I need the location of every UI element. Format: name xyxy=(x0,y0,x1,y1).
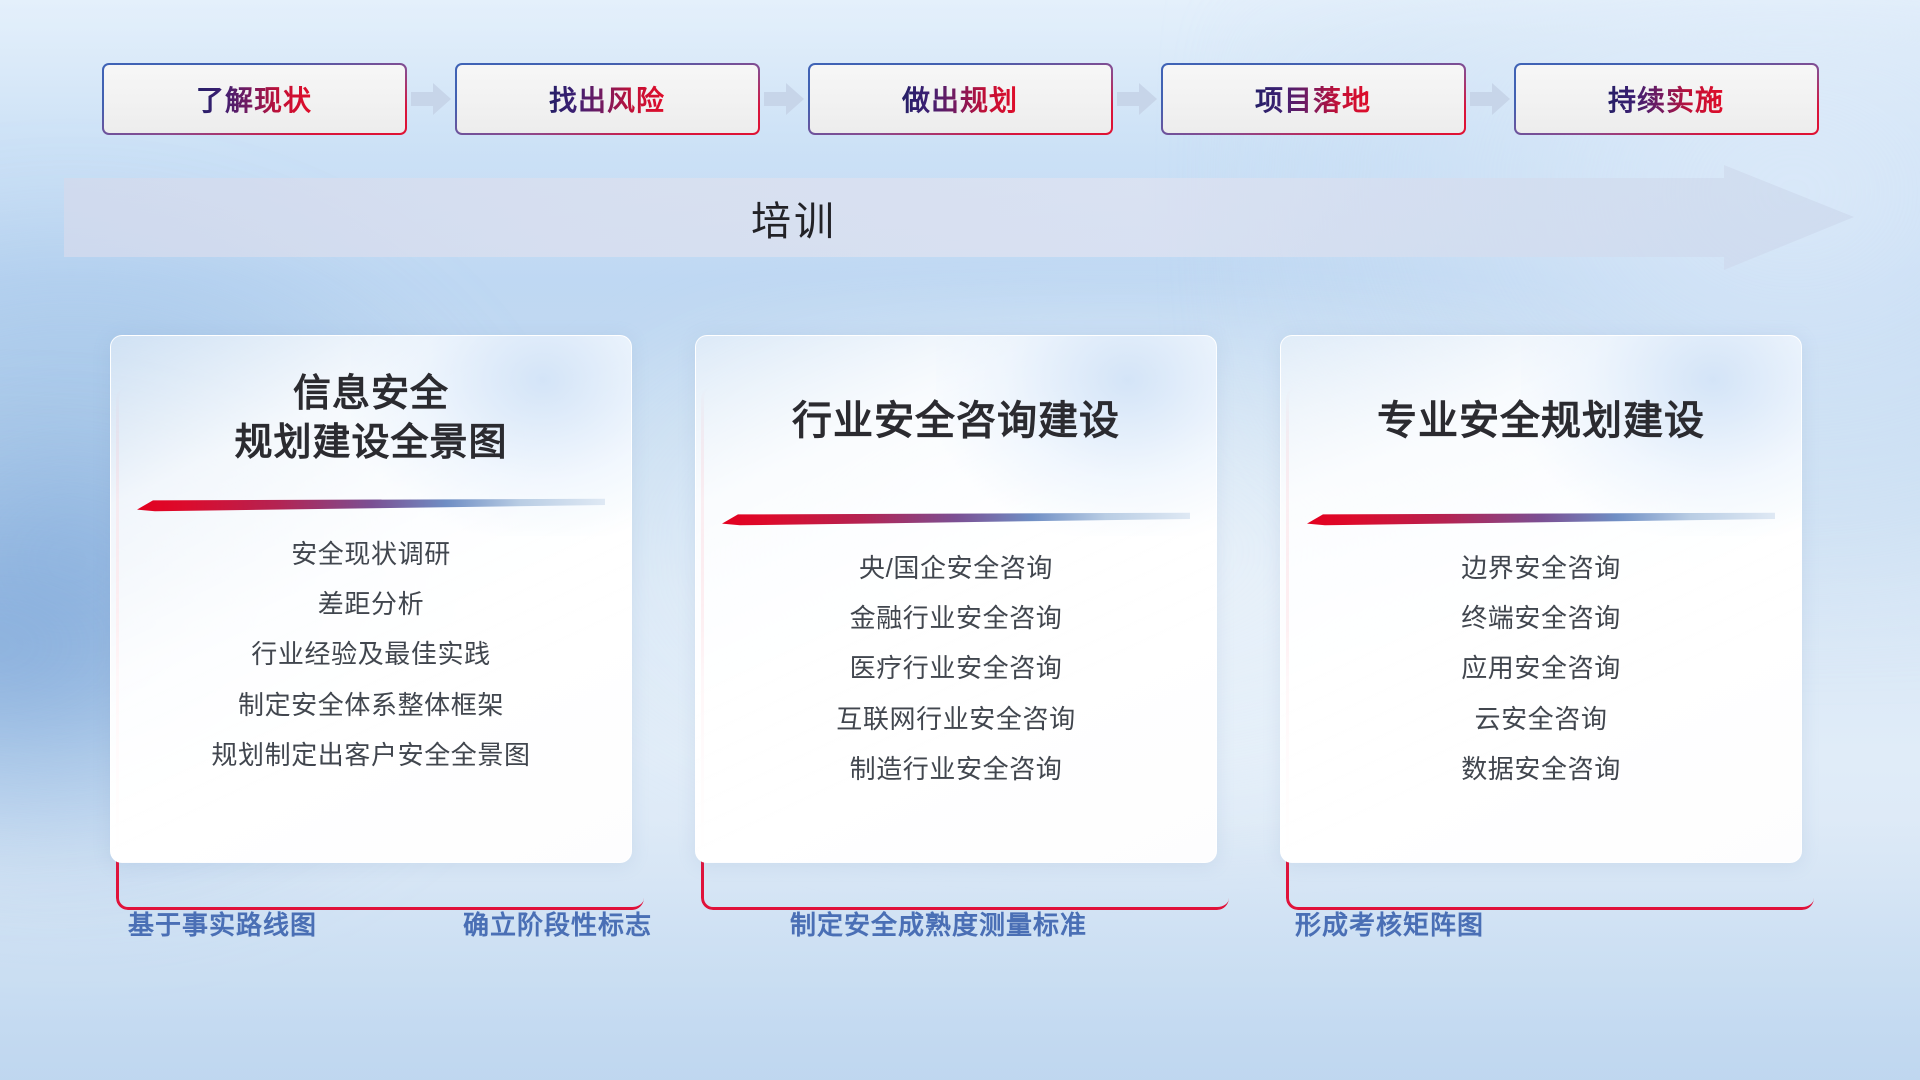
card-item-list: 安全现状调研差距分析行业经验及最佳实践制定安全体系整体框架规划制定出客户安全全景… xyxy=(137,533,605,776)
step-label: 项目落地 xyxy=(1255,79,1371,119)
step-understand-status[interactable]: 了解现状 xyxy=(102,63,407,135)
step-make-plan[interactable]: 做出规划 xyxy=(808,63,1113,135)
card-1: 信息安全 规划建设全景图安全现状调研差距分析行业经验及最佳实践制定安全体系整体框… xyxy=(110,335,640,880)
step-label: 找出风险 xyxy=(549,79,665,119)
card-divider xyxy=(722,511,1190,527)
list-item[interactable]: 互联网行业安全咨询 xyxy=(836,698,1075,740)
list-item[interactable]: 行业经验及最佳实践 xyxy=(251,633,490,675)
card-title: 专业安全规划建设 xyxy=(1377,396,1705,447)
card-surface: 专业安全规划建设边界安全咨询终端安全咨询应用安全咨询云安全咨询数据安全咨询 xyxy=(1280,335,1802,863)
banner-title: 培训 xyxy=(64,165,1524,270)
card-surface: 信息安全 规划建设全景图安全现状调研差距分析行业经验及最佳实践制定安全体系整体框… xyxy=(110,335,632,863)
list-item[interactable]: 规划制定出客户安全全景图 xyxy=(211,734,530,776)
footer-label: 制定安全成熟度测量标准 xyxy=(790,905,1087,942)
card-title: 信息安全 规划建设全景图 xyxy=(234,370,507,467)
footer-label: 确立阶段性标志 xyxy=(463,905,652,942)
footer-label-row: 基于事实路线图确立阶段性标志制定安全成熟度测量标准形成考核矩阵图 xyxy=(0,905,1920,965)
step-label: 了解现状 xyxy=(196,79,312,119)
list-item[interactable]: 应用安全咨询 xyxy=(1461,647,1621,689)
list-item[interactable]: 数据安全咨询 xyxy=(1461,748,1621,790)
list-item[interactable]: 制定安全体系整体框架 xyxy=(238,684,504,726)
step-project-landing[interactable]: 项目落地 xyxy=(1161,63,1466,135)
step-label: 持续实施 xyxy=(1608,79,1724,119)
list-item[interactable]: 云安全咨询 xyxy=(1474,698,1607,740)
step-find-risk[interactable]: 找出风险 xyxy=(455,63,760,135)
card-content: 行业安全咨询建设央/国企安全咨询金融行业安全咨询医疗行业安全咨询互联网行业安全咨… xyxy=(696,336,1216,862)
arrow-right-icon xyxy=(760,81,808,117)
card-row: 信息安全 规划建设全景图安全现状调研差距分析行业经验及最佳实践制定安全体系整体框… xyxy=(0,335,1920,895)
card-surface: 行业安全咨询建设央/国企安全咨询金融行业安全咨询医疗行业安全咨询互联网行业安全咨… xyxy=(695,335,1217,863)
process-step-row: 了解现状找出风险做出规划项目落地持续实施 xyxy=(0,60,1920,138)
list-item[interactable]: 金融行业安全咨询 xyxy=(850,597,1063,639)
list-item[interactable]: 医疗行业安全咨询 xyxy=(850,647,1063,689)
training-banner: 培训 xyxy=(64,165,1854,270)
list-item[interactable]: 终端安全咨询 xyxy=(1461,597,1621,639)
card-divider xyxy=(1307,511,1775,527)
card-title: 行业安全咨询建设 xyxy=(792,396,1120,447)
card-content: 信息安全 规划建设全景图安全现状调研差距分析行业经验及最佳实践制定安全体系整体框… xyxy=(111,336,631,862)
card-item-list: 边界安全咨询终端安全咨询应用安全咨询云安全咨询数据安全咨询 xyxy=(1307,547,1775,790)
list-item[interactable]: 边界安全咨询 xyxy=(1461,547,1621,589)
card-divider xyxy=(137,497,605,513)
step-continuous-implementation[interactable]: 持续实施 xyxy=(1514,63,1819,135)
footer-label: 形成考核矩阵图 xyxy=(1295,905,1484,942)
card-item-list: 央/国企安全咨询金融行业安全咨询医疗行业安全咨询互联网行业安全咨询制造行业安全咨… xyxy=(722,547,1190,790)
list-item[interactable]: 安全现状调研 xyxy=(291,533,451,575)
arrow-right-icon xyxy=(1466,81,1514,117)
footer-label: 基于事实路线图 xyxy=(128,905,317,942)
list-item[interactable]: 央/国企安全咨询 xyxy=(859,547,1053,589)
card-2: 行业安全咨询建设央/国企安全咨询金融行业安全咨询医疗行业安全咨询互联网行业安全咨… xyxy=(695,335,1225,880)
card-3: 专业安全规划建设边界安全咨询终端安全咨询应用安全咨询云安全咨询数据安全咨询 xyxy=(1280,335,1810,880)
arrow-right-icon xyxy=(1113,81,1161,117)
list-item[interactable]: 差距分析 xyxy=(318,583,424,625)
card-content: 专业安全规划建设边界安全咨询终端安全咨询应用安全咨询云安全咨询数据安全咨询 xyxy=(1281,336,1801,862)
arrow-right-icon xyxy=(407,81,455,117)
list-item[interactable]: 制造行业安全咨询 xyxy=(850,748,1063,790)
step-label: 做出规划 xyxy=(902,79,1018,119)
